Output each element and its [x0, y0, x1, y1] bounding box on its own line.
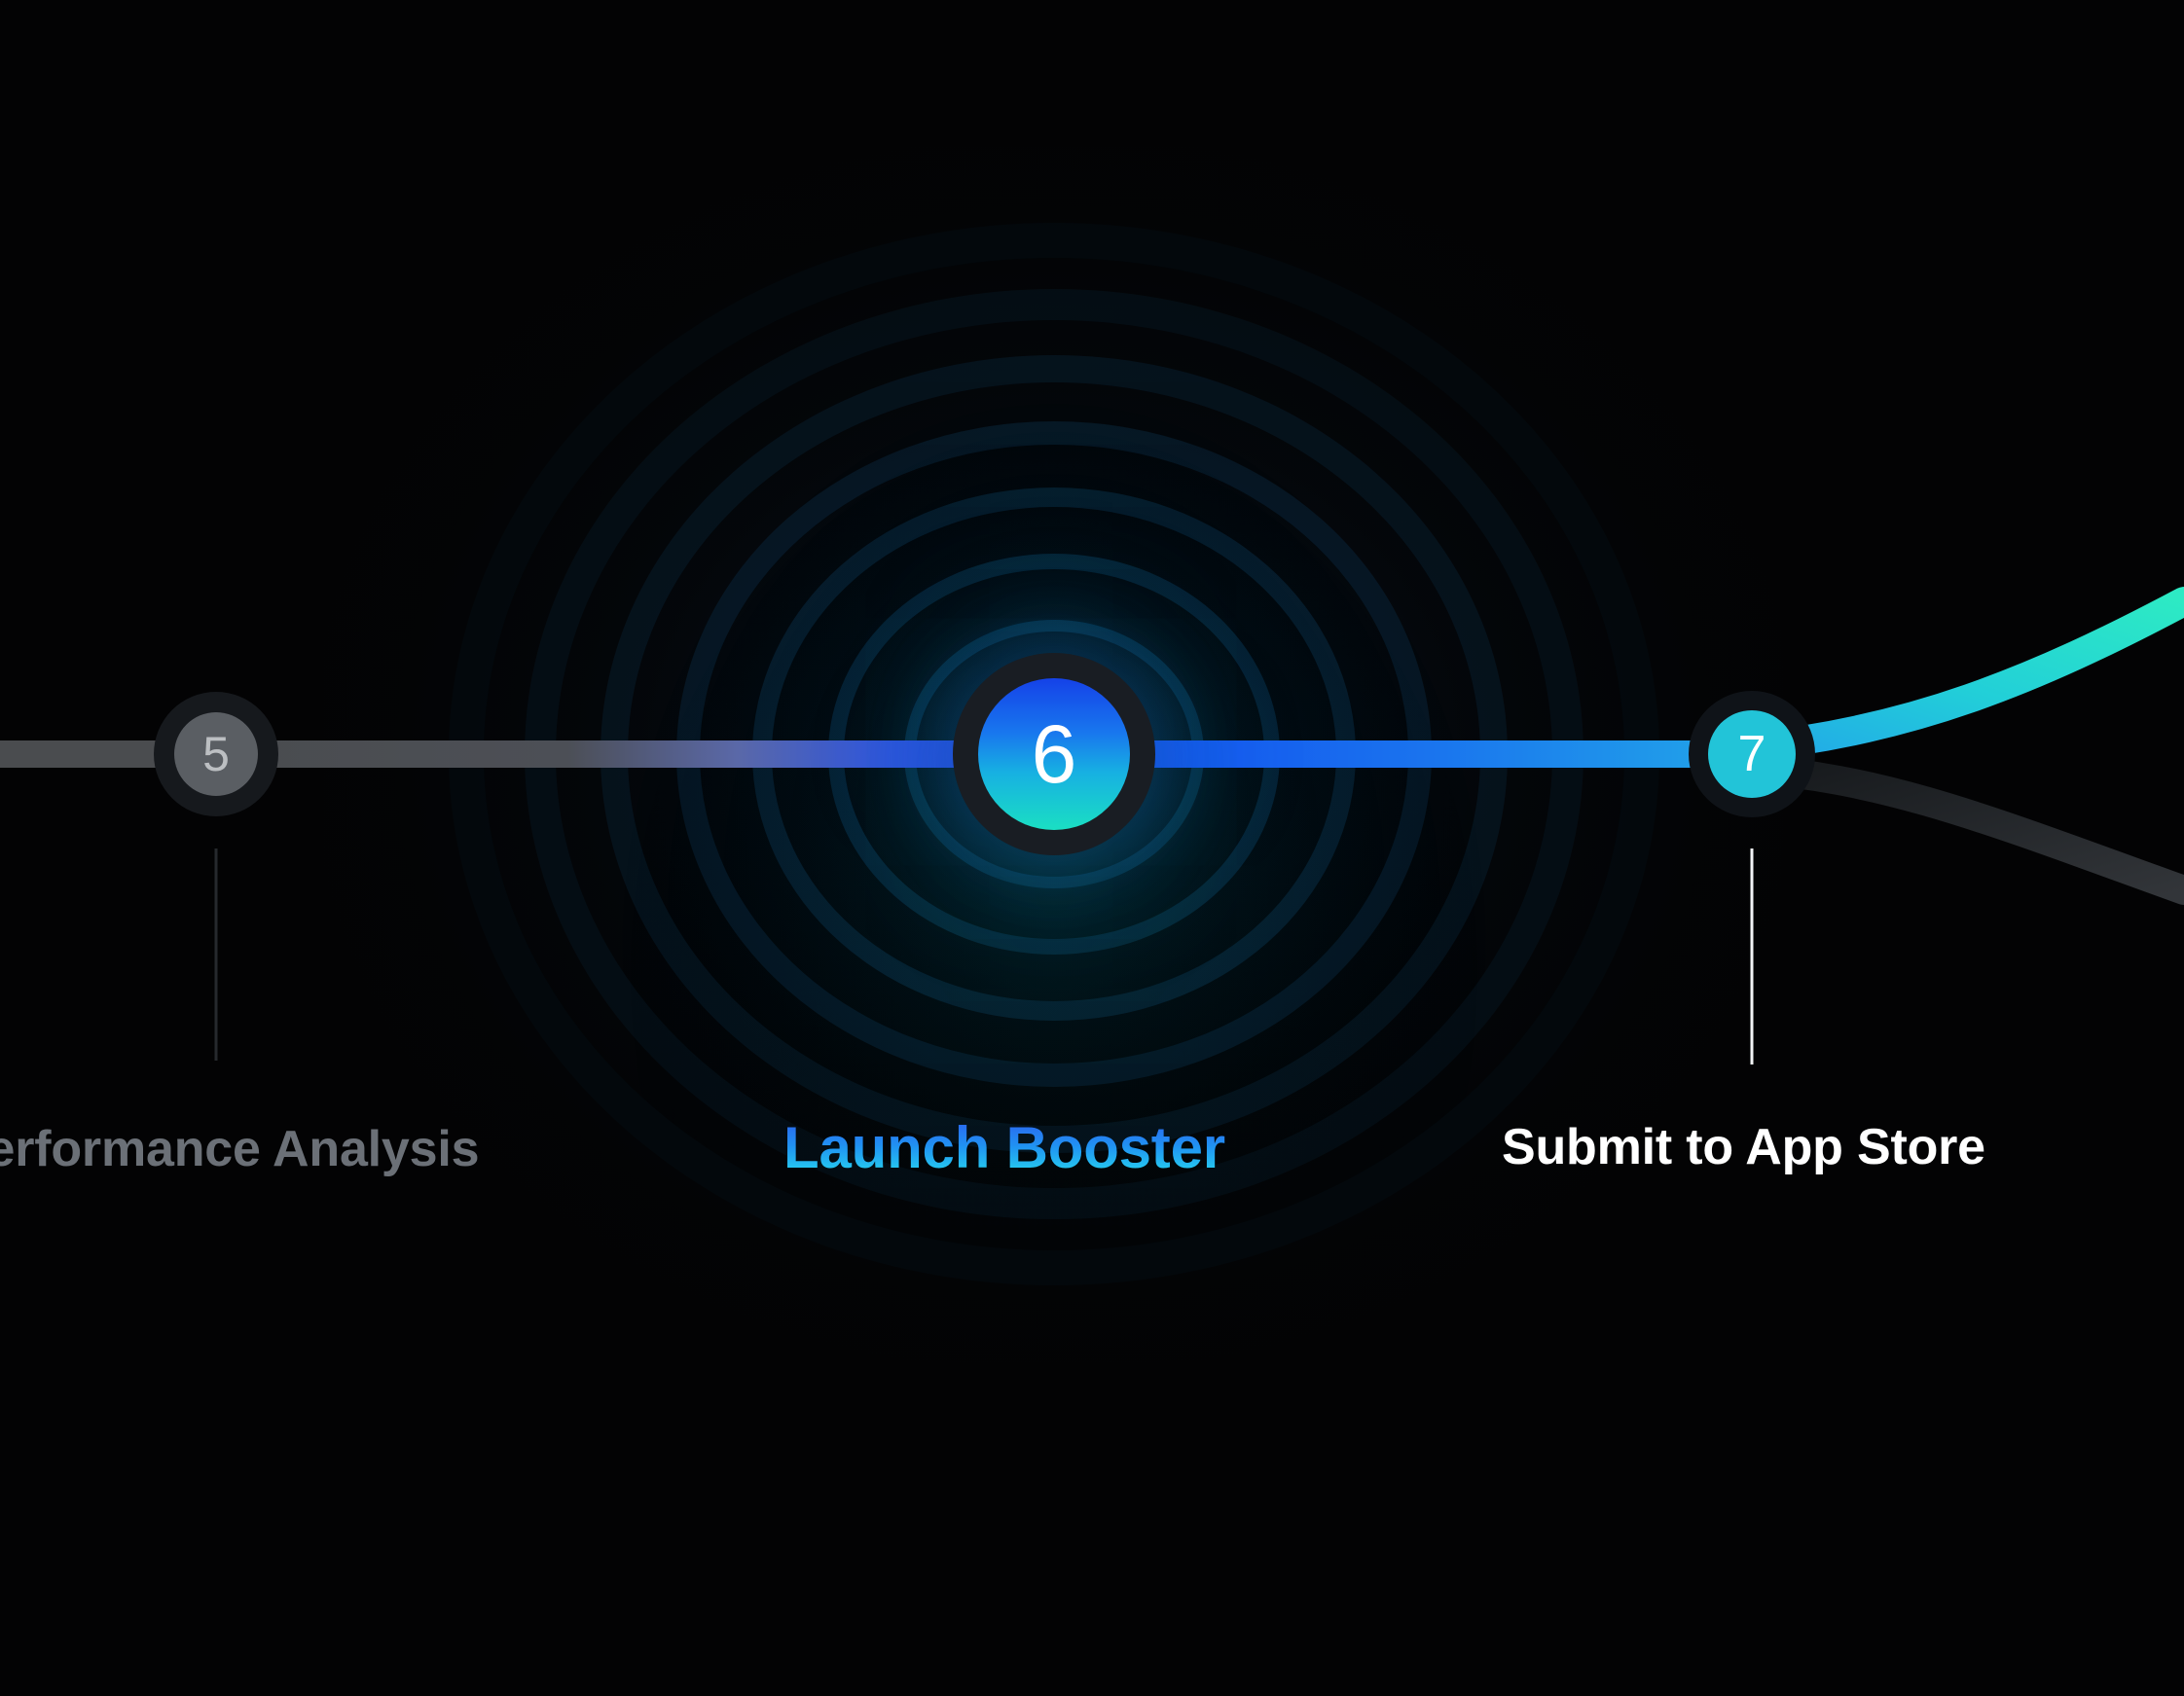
timeline-node-6[interactable]: 6 — [953, 653, 1155, 855]
timeline-node-7[interactable]: 7 — [1689, 691, 1815, 817]
node-7-number: 7 — [1708, 710, 1796, 798]
node-5-label[interactable]: Performance Analysis — [0, 1124, 479, 1174]
stem-node-5 — [215, 848, 218, 1061]
node-6-label[interactable]: Launch Booster — [783, 1119, 1225, 1177]
branch-lower-dark — [1747, 769, 2184, 890]
timeline-node-5[interactable]: 5 — [154, 692, 278, 816]
node-7-label[interactable]: Submit to App Store — [1502, 1122, 1985, 1173]
node-6-number: 6 — [978, 678, 1130, 830]
connector-layer — [0, 0, 2184, 1696]
stem-node-7 — [1751, 848, 1754, 1065]
branch-upper-cyan — [1747, 601, 2184, 747]
timeline-canvas: 5 6 7 Performance Analysis Launch Booste… — [0, 0, 2184, 1696]
node-5-number: 5 — [174, 712, 258, 796]
segment-5-to-6 — [212, 740, 1059, 768]
